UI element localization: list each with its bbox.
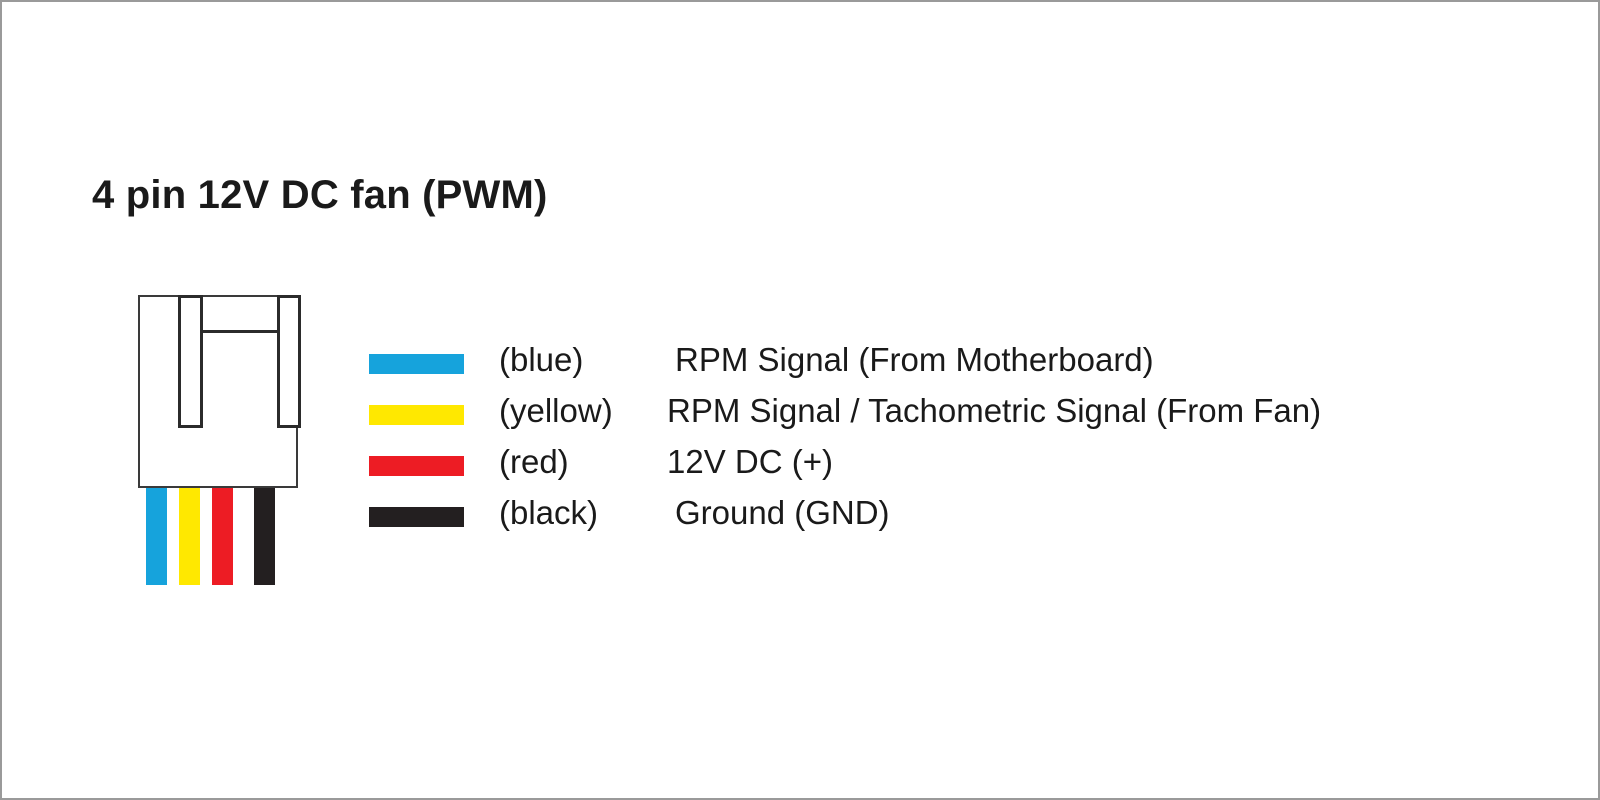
legend-color-name: (blue) (499, 341, 583, 379)
connector-slot-right (277, 295, 301, 428)
legend-color-name: (yellow) (499, 392, 613, 430)
legend-description: RPM Signal / Tachometric Signal (From Fa… (667, 392, 1321, 430)
wire-blue (146, 488, 167, 585)
legend-color-swatch (369, 354, 464, 374)
legend-color-swatch (369, 507, 464, 527)
fan-connector-illustration (132, 288, 312, 598)
wire-red (212, 488, 233, 585)
connector-crossbar (200, 330, 280, 333)
legend-color-name: (red) (499, 443, 569, 481)
legend-color-swatch (369, 456, 464, 476)
legend-color-swatch (369, 405, 464, 425)
legend-description: 12V DC (+) (667, 443, 833, 481)
diagram-canvas: 4 pin 12V DC fan (PWM) (blue)RPM Signal … (0, 0, 1600, 800)
page-title: 4 pin 12V DC fan (PWM) (92, 173, 548, 218)
legend-description: RPM Signal (From Motherboard) (675, 341, 1154, 379)
legend-description: Ground (GND) (675, 494, 890, 532)
wire-yellow (179, 488, 200, 585)
wire-black (254, 488, 275, 585)
legend-color-name: (black) (499, 494, 598, 532)
connector-slot-left (178, 295, 203, 428)
connector-body (138, 295, 298, 488)
